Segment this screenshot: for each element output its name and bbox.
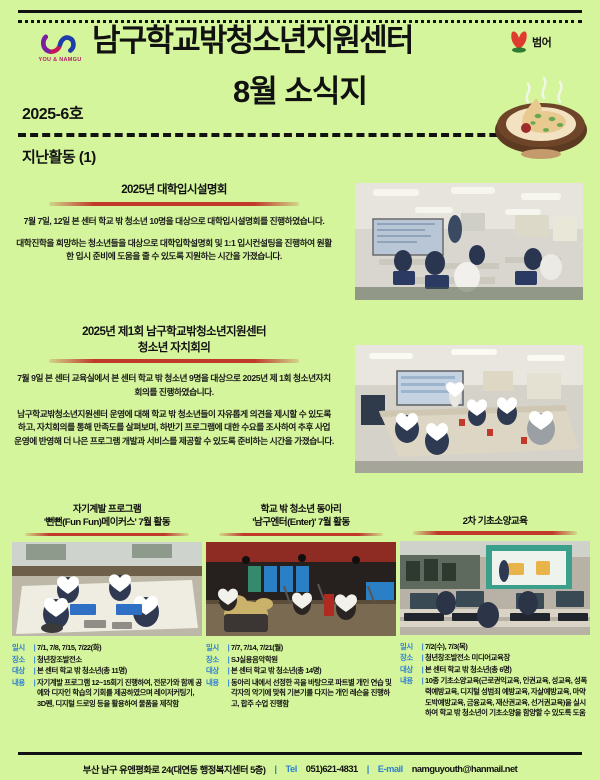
card-1-row-target-key: 대상: [12, 666, 32, 677]
card-2-row-content: 내용 | 동아리 내에서 선정한 곡을 바탕으로 파트별 개인 연습 및 각자의…: [206, 678, 396, 710]
photo-namgu-enter-band: [206, 542, 396, 636]
footer-separator-1: |: [274, 764, 276, 774]
card-1-row-place-value: 청년창조발전소: [37, 655, 202, 666]
card-basic-literacy: 2차 기초소양교육: [400, 503, 590, 720]
photo-basic-literacy-education: [400, 541, 590, 635]
card-2-row-date-value: 7/7, 7/14, 7/21(월): [231, 643, 396, 654]
logo-swoosh-icon: [40, 33, 80, 55]
article-2-underline: [49, 359, 299, 363]
card-3-row-date: 일시 | 7/2(수), 7/3(목): [400, 642, 590, 653]
logo-text: YOU & NAMGU: [38, 57, 81, 63]
article-2-title: 2025년 제1회 남구학교밖청소년지원센터 청소년 자치회의: [14, 325, 334, 356]
footer-rule: [18, 752, 582, 755]
footer: 부산 남구 유엔평화로 24(대연동 행정복지센터 5층) | Tel 051)…: [0, 758, 600, 780]
card-3-row-target: 대상 | 본 센터 학교 밖 청소년(총 6명): [400, 665, 590, 676]
card-1-row-date-value: 7/1, 7/8, 7/15, 7/22(화): [37, 643, 202, 654]
newsletter-page: YOU & NAMGU 남구학교밖청소년지원센터 8월 소식지 2025-6호 …: [0, 0, 600, 780]
photo-fun-fun-makers: [12, 542, 202, 636]
footer-address: 부산 남구 유엔평화로 24(대연동 행정복지센터 5층): [83, 762, 266, 776]
article-1-title: 2025년 대학입시설명회: [14, 183, 334, 199]
photo-youth-council-meeting: [355, 345, 583, 473]
card-1-row-date-key: 일시: [12, 643, 32, 654]
card-2-row-content-key: 내용: [206, 678, 226, 710]
namgu-logo: YOU & NAMGU: [30, 28, 90, 68]
card-2-title: 학교 밖 청소년 동아리 '남구엔터(Enter)' 7월 활동: [206, 503, 396, 530]
card-3-row-target-value: 본 센터 학교 밖 청소년(총 6명): [425, 665, 590, 676]
section-label: 지난활동 (1): [22, 146, 96, 167]
article-2: 2025년 제1회 남구학교밖청소년지원센터 청소년 자치회의 7월 9일 본 …: [14, 325, 334, 448]
card-1-row-content-key: 내용: [12, 678, 32, 710]
page-title: 남구학교밖청소년지원센터: [92, 25, 492, 56]
card-1-row-content-value: 자기계발 프로그램 12~15회기 진행하여, 전문가와 함께 공예와 디자인 …: [37, 678, 202, 710]
card-2-row-target: 대상 | 본 센터 학교 밖 청소년(총 14명): [206, 666, 396, 677]
card-1-details: 일시 | 7/1, 7/8, 7/15, 7/22(화) 장소 | 청년창조발전…: [12, 643, 202, 709]
card-1-row-place-key: 장소: [12, 655, 32, 666]
card-1-row-target: 대상 | 본 센터 학교 밖 청소년(총 11명): [12, 666, 202, 677]
mascot-name: 범어: [532, 34, 551, 50]
article-1-paragraph-1: 7월 7일, 12일 본 센터 학교 밖 청소년 10명을 대상으로 대학입시설…: [14, 215, 334, 228]
card-1-row-place: 장소 | 청년창조발전소: [12, 655, 202, 666]
article-2-paragraph-2: 남구학교밖청소년지원센터 운영에 대해 학교 밖 청소년들이 자유롭게 의견을 …: [14, 408, 334, 448]
footer-email-label: E-mail: [378, 764, 403, 774]
header-solid-rule: [18, 10, 582, 13]
card-3-row-content-key: 내용: [400, 676, 420, 718]
card-3-row-place: 장소 | 청년창조발전소 미디어교육장: [400, 653, 590, 664]
card-2-row-place-key: 장소: [206, 655, 226, 666]
card-3-row-date-value: 7/2(수), 7/3(목): [425, 642, 590, 653]
footer-separator-2: |: [367, 764, 369, 774]
card-1-title: 자기계발 프로그램 '뻔뻔(Fun Fun)메이커스' 7월 활동: [12, 503, 202, 530]
mascot: 범어: [508, 29, 551, 55]
article-2-paragraph-1: 7월 9일 본 센터 교육실에서 본 센터 학교 밖 청소년 9명을 대상으로 …: [14, 372, 334, 399]
samgyetang-illustration: [486, 62, 596, 162]
card-3-row-content: 내용 | 10종 기초소양교육(근로권익교육, 인권교육, 성교육, 성폭력예방…: [400, 676, 590, 718]
card-1-row-date: 일시 | 7/1, 7/8, 7/15, 7/22(화): [12, 643, 202, 654]
card-2-row-date: 일시 | 7/7, 7/14, 7/21(월): [206, 643, 396, 654]
article-2-body: 7월 9일 본 센터 교육실에서 본 센터 학교 밖 청소년 9명을 대상으로 …: [14, 372, 334, 448]
article-1-paragraph-2: 대학진학을 희망하는 청소년들을 대상으로 대학입학설명회 및 1:1 입시컨설…: [14, 237, 334, 264]
card-2-row-place-value: SJ실용음악학원: [231, 655, 396, 666]
flower-mascot-icon: [508, 29, 530, 55]
card-2-details: 일시 | 7/7, 7/14, 7/21(월) 장소 | SJ실용음악학원 대상…: [206, 643, 396, 709]
card-2-row-content-value: 동아리 내에서 선정한 곡을 바탕으로 파트별 개인 연습 및 각자의 악기에 …: [231, 678, 396, 710]
issue-number: 2025-6호: [22, 100, 83, 124]
footer-tel-label: Tel: [286, 764, 297, 774]
card-1-underline: [25, 533, 188, 537]
card-2-row-place: 장소 | SJ실용음악학원: [206, 655, 396, 666]
card-3-row-place-key: 장소: [400, 653, 420, 664]
card-1-row-target-value: 본 센터 학교 밖 청소년(총 11명): [37, 666, 202, 677]
card-fun-fun-makers: 자기계발 프로그램 '뻔뻔(Fun Fun)메이커스' 7월 활동: [12, 503, 202, 710]
card-2-title-line1: 학교 밖 청소년 동아리: [206, 503, 396, 516]
card-2-row-date-key: 일시: [206, 643, 226, 654]
article-1-underline: [49, 202, 299, 206]
article-1-body: 7월 7일, 12일 본 센터 학교 밖 청소년 10명을 대상으로 대학입시설…: [14, 215, 334, 264]
card-2-row-target-key: 대상: [206, 666, 226, 677]
card-2-title-line2: '남구엔터(Enter)' 7월 활동: [206, 516, 396, 529]
card-3-underline: [413, 531, 576, 535]
card-1-title-line2: '뻔뻔(Fun Fun)메이커스' 7월 활동: [12, 516, 202, 529]
card-3-row-place-value: 청년창조발전소 미디어교육장: [425, 653, 590, 664]
card-2-row-target-value: 본 센터 학교 밖 청소년(총 14명): [231, 666, 396, 677]
card-3-row-target-key: 대상: [400, 665, 420, 676]
article-1: 2025년 대학입시설명회 7월 7일, 12일 본 센터 학교 밖 청소년 1…: [14, 183, 334, 264]
card-3-row-date-key: 일시: [400, 642, 420, 653]
card-3-row-content-value: 10종 기초소양교육(근로권익교육, 인권교육, 성교육, 성폭력예방교육, 디…: [425, 676, 590, 718]
card-1-title-line1: 자기계발 프로그램: [12, 503, 202, 516]
card-3-title: 2차 기초소양교육: [400, 503, 590, 528]
card-2-underline: [219, 533, 382, 537]
footer-tel-value[interactable]: 051)621-4831: [306, 764, 358, 774]
card-3-details: 일시 | 7/2(수), 7/3(목) 장소 | 청년창조발전소 미디어교육장 …: [400, 642, 590, 719]
card-3-title-line1: 2차 기초소양교육: [400, 515, 590, 528]
footer-email-value[interactable]: namguyouth@hanmail.net: [412, 764, 518, 774]
card-namgu-enter: 학교 밖 청소년 동아리 '남구엔터(Enter)' 7월 활동: [206, 503, 396, 710]
photo-college-admission-briefing: [355, 183, 583, 300]
card-1-row-content: 내용 | 자기계발 프로그램 12~15회기 진행하여, 전문가와 함께 공예와…: [12, 678, 202, 710]
